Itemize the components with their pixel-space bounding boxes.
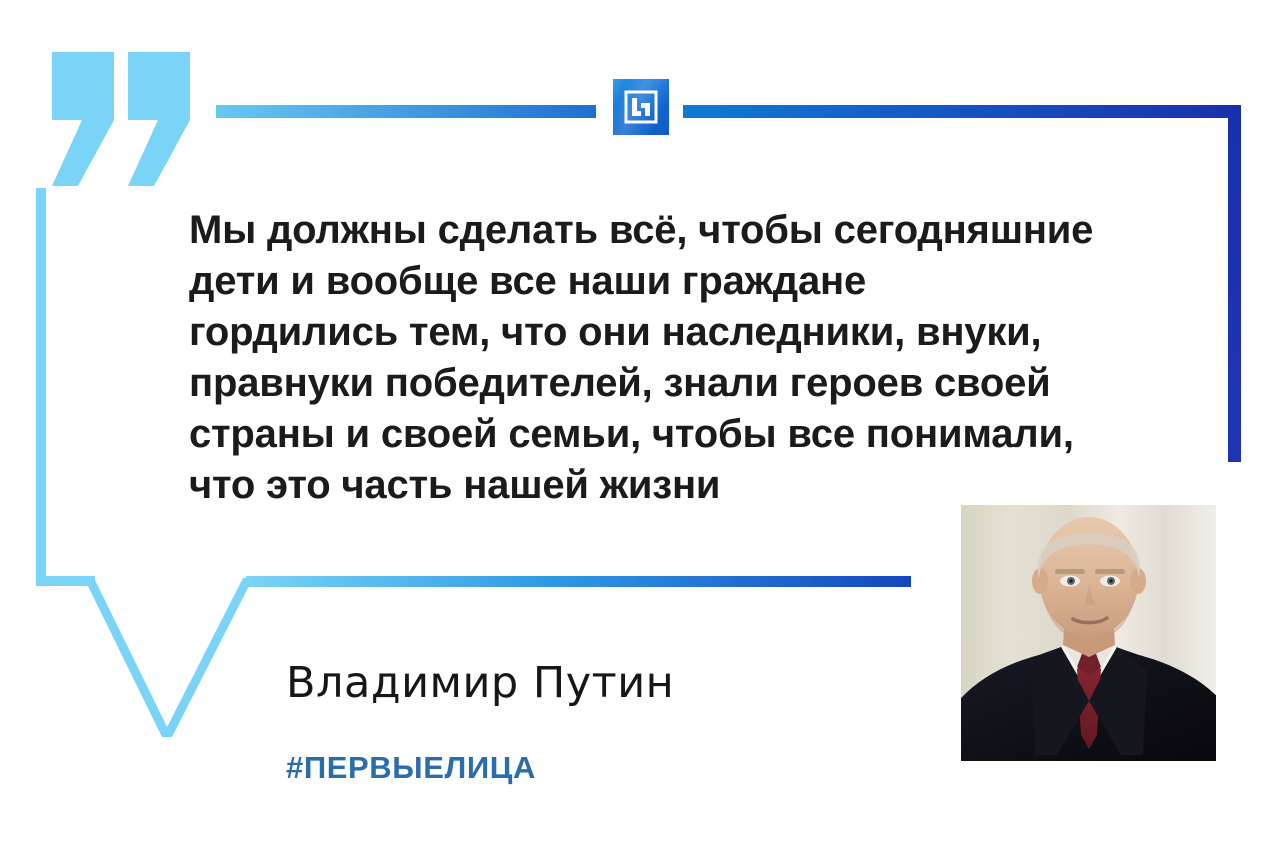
life-logo[interactable]: [613, 79, 669, 135]
quote-card: Мы должны сделать всё, чтобы сегодняшние…: [0, 0, 1280, 855]
hashtag: #ПЕРВЫЕЛИЦА: [286, 750, 536, 786]
quote-text: Мы должны сделать всё, чтобы сегодняшние…: [189, 205, 1219, 511]
quote-mark-icon: [52, 52, 202, 192]
logo-glyph-icon: [613, 79, 669, 135]
author-name: Владимир Путин: [286, 658, 674, 708]
portrait-photo: [961, 505, 1216, 761]
